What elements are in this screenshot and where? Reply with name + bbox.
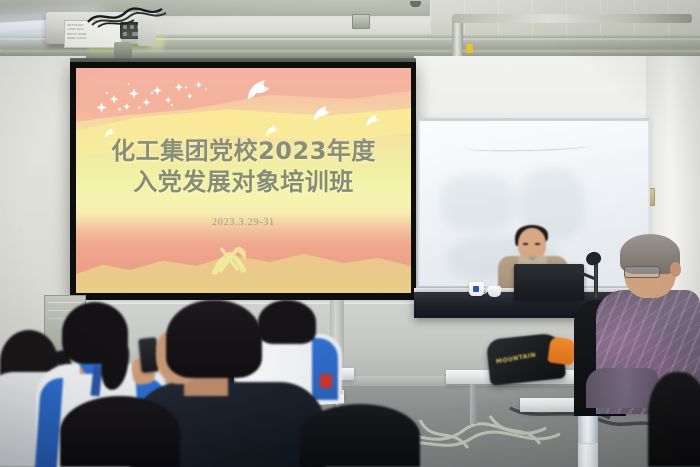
white-mug [469, 282, 484, 296]
yellow-tag-marker [466, 44, 473, 53]
slide-title: 化工集团党校2023年度 入党发展对象培训班 [76, 136, 411, 199]
classroom-photo: SETTINGS LAMP ECO INPUT HDMI MENU AUTO [0, 0, 700, 467]
slide-date: 2023.3.29-31 [76, 217, 411, 228]
attendee-foreground-head [60, 396, 180, 467]
ceiling-projector: SETTINGS LAMP ECO INPUT HDMI MENU AUTO [46, 8, 158, 52]
projector-ceiling-mount [114, 42, 132, 58]
glasses-icon [624, 266, 660, 278]
ceiling-pipe-horizontal [452, 14, 692, 23]
white-dove-icon [311, 104, 333, 123]
white-dove-icon [364, 113, 382, 128]
bottle-label: 矿泉水 [578, 443, 598, 467]
electrical-junction-box-icon [352, 14, 370, 29]
projector-cables-icon [86, 6, 176, 28]
presentation-slide: 化工集团党校2023年度 入党发展对象培训班 2023.3.29-31 [76, 68, 411, 293]
whiteboard-marker-streak [466, 141, 592, 152]
laptop-computer[interactable] [514, 264, 584, 300]
attendee-ear [670, 262, 681, 277]
attendee-arm [586, 368, 658, 408]
desk-leg [470, 384, 477, 424]
white-dove-icon [244, 77, 274, 103]
bottle-body: 矿泉水 [578, 409, 598, 467]
slide-title-line-2: 入党发展对象培训班 [76, 167, 411, 199]
orange-garment [547, 336, 576, 365]
jacket-red-detail [320, 374, 332, 388]
projection-screen: 化工集团党校2023年度 入党发展对象培训班 2023.3.29-31 [70, 62, 416, 300]
attendee-foreground-right [648, 372, 700, 467]
party-emblem-icon [203, 235, 257, 285]
mug-logo-icon [473, 286, 479, 292]
slide-title-line-1: 化工集团党校2023年度 [76, 136, 411, 168]
backpack-brand-text: MOUNTAIN [496, 352, 537, 366]
ceiling-sensor-icon [410, 1, 421, 7]
student-hair [166, 300, 262, 378]
attendee-foreground-head [300, 404, 420, 467]
sparkle-icon [83, 75, 237, 120]
projector-label-line: MENU AUTO [67, 36, 119, 40]
paper-cup [488, 286, 501, 297]
